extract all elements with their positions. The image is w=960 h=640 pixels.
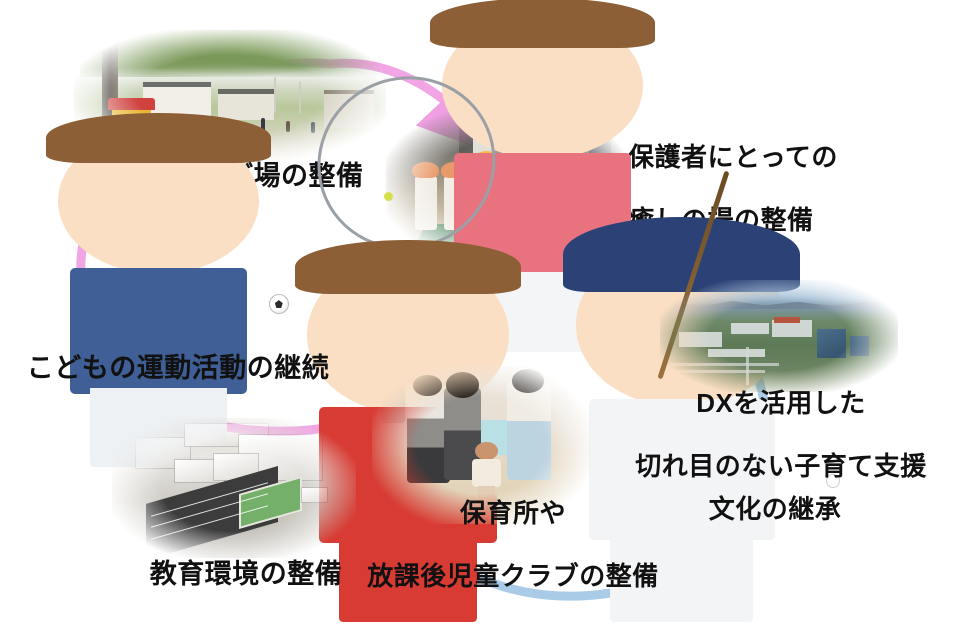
caption-dx-line2: 切れ目のない子育て支援 xyxy=(635,451,927,481)
toddler xyxy=(472,442,500,502)
caption-dx-support: DXを活用した 切れ目のない子育て支援 xyxy=(616,388,946,483)
caption-parent-healing-line1: 保護者にとっての xyxy=(628,142,838,172)
caption-nursery-line1: 保育所や xyxy=(460,498,566,528)
town-aerial-photo xyxy=(660,280,898,392)
school-complex-render-photo xyxy=(112,418,356,558)
caption-nursery: 保育所や 放課後児童クラブの整備 xyxy=(348,498,678,593)
caption-sports: こどもの運動活動の継続 xyxy=(8,352,348,385)
kid-soccer xyxy=(58,128,260,461)
caption-dx-line1: DXを活用した xyxy=(696,388,866,418)
caption-culture: 文化の継承 xyxy=(660,494,890,526)
soccer-ball-icon xyxy=(269,294,289,314)
caption-nursery-line2: 放課後児童クラブの整備 xyxy=(367,561,659,591)
tennis-ball-icon xyxy=(384,192,393,201)
caption-education: 教育環境の整備 xyxy=(126,558,366,591)
slide-canvas: こどもの遊び場の整備 通学路の安全対策 保護者にとっての 癒しの場の整備 xyxy=(0,0,960,640)
